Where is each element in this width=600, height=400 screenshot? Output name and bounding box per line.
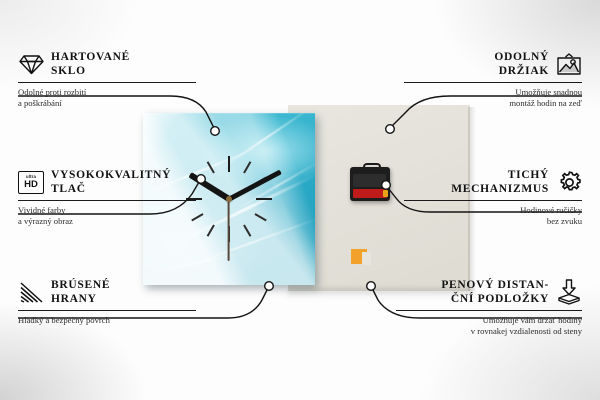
feature-title-line2: ČNÍ PODLOŽKY: [451, 293, 549, 305]
feature-title-line1: HARTOVANÉ: [51, 51, 130, 63]
feature-hardened-glass: HARTOVANÉ SKLO Odolné proti rozbití a po…: [18, 50, 196, 110]
feature-desc-line2: v rovnakej vzdialenosti od steny: [471, 326, 582, 336]
feature-heading-row: ODOLNÝ DRŽIAK: [404, 50, 582, 78]
feature-title: ODOLNÝ DRŽIAK: [494, 50, 549, 78]
infographic-canvas: HARTOVANÉ SKLO Odolné proti rozbití a po…: [0, 0, 600, 400]
feature-divider: [18, 200, 196, 201]
feature-desc-line2: a výrazný obraz: [18, 216, 73, 226]
feature-title-line2: MECHANIZMUS: [451, 183, 549, 195]
ultra-hd-icon: ultra HD: [18, 170, 44, 194]
feature-silent-mechanism: TICHÝ MECHANIZMUS Hodinové ručičky bez z…: [404, 168, 582, 228]
feature-desc-line2: a poškrábání: [18, 98, 62, 108]
feature-heading-row: ultra HD VYSOKOKVALITNÝ TLAČ: [18, 168, 196, 196]
feature-title: BRÚSENÉ HRANY: [51, 278, 110, 306]
leader-endpoint-6: [367, 282, 376, 291]
feature-title: HARTOVANÉ SKLO: [51, 50, 130, 78]
feature-title-line2: HRANY: [51, 293, 97, 305]
feature-title-line2: TLAČ: [51, 183, 86, 195]
feature-desc-line1: Umožňuje snadnou: [515, 87, 582, 97]
feature-desc-line2: bez zvuku: [547, 216, 582, 226]
feature-title-line1: BRÚSENÉ: [51, 279, 110, 291]
feature-desc-line1: Umožňuje vám držať hodiny: [483, 315, 582, 325]
feature-description: Odolné proti rozbití a poškrábání: [18, 87, 196, 110]
feature-divider: [396, 310, 582, 311]
feature-title-line1: VYSOKOKVALITNÝ: [51, 169, 171, 181]
feature-title: PENOVÝ DISTAN- ČNÍ PODLOŽKY: [441, 278, 549, 306]
feature-high-quality-print: ultra HD VYSOKOKVALITNÝ TLAČ Vividné far…: [18, 168, 196, 228]
feature-divider: [404, 82, 582, 83]
feature-desc-line1: Hodinové ručičky: [520, 205, 582, 215]
feature-heading-row: TICHÝ MECHANIZMUS: [404, 168, 582, 196]
ground-edges-icon: [18, 280, 44, 304]
feature-heading-row: BRÚSENÉ HRANY: [18, 278, 196, 306]
feature-description: Hladký a bezpečný povrch: [18, 315, 196, 326]
feature-divider: [404, 200, 582, 201]
feature-desc-line1: Odolné proti rozbití: [18, 87, 86, 97]
leader-endpoint-2: [197, 175, 206, 184]
feature-foam-spacers: PENOVÝ DISTAN- ČNÍ PODLOŽKY Umožňuje vám…: [396, 278, 582, 338]
feature-description: Umožňuje vám držať hodiny v rovnakej vzd…: [396, 315, 582, 338]
ultra-hd-large-text: HD: [24, 180, 38, 190]
feature-heading-row: PENOVÝ DISTAN- ČNÍ PODLOŽKY: [396, 278, 582, 306]
feature-title-line1: PENOVÝ DISTAN-: [441, 279, 549, 291]
gear-icon: [556, 170, 582, 194]
feature-title: VYSOKOKVALITNÝ TLAČ: [51, 168, 171, 196]
feature-title-line1: TICHÝ: [508, 169, 549, 181]
feature-divider: [18, 82, 196, 83]
feature-divider: [18, 310, 196, 311]
leader-endpoint-3: [265, 282, 274, 291]
feature-desc-line2: montáž hodin na zeď: [509, 98, 582, 108]
leader-endpoint-5: [382, 181, 391, 190]
feature-title: TICHÝ MECHANIZMUS: [451, 168, 549, 196]
picture-hanger-icon: [556, 52, 582, 76]
feature-ground-edges: BRÚSENÉ HRANY Hladký a bezpečný povrch: [18, 278, 196, 326]
feature-description: Umožňuje snadnou montáž hodin na zeď: [404, 87, 582, 110]
feature-title-line2: SKLO: [51, 65, 86, 77]
feature-title-line2: DRŽIAK: [499, 65, 549, 77]
feature-heading-row: HARTOVANÉ SKLO: [18, 50, 196, 78]
leader-endpoint-1: [211, 127, 220, 136]
ultra-hd-badge: ultra HD: [18, 171, 44, 194]
feature-desc-line1: Hladký a bezpečný povrch: [18, 315, 110, 325]
foam-pad-icon: [556, 280, 582, 304]
diamond-icon: [18, 52, 44, 76]
feature-desc-line1: Vividné farby: [18, 205, 65, 215]
feature-durable-hanger: ODOLNÝ DRŽIAK Umožňuje snadnou montáž h: [404, 50, 582, 110]
leader-endpoint-4: [386, 125, 395, 134]
feature-title-line1: ODOLNÝ: [494, 51, 549, 63]
feature-description: Vividné farby a výrazný obraz: [18, 205, 196, 228]
feature-description: Hodinové ručičky bez zvuku: [404, 205, 582, 228]
